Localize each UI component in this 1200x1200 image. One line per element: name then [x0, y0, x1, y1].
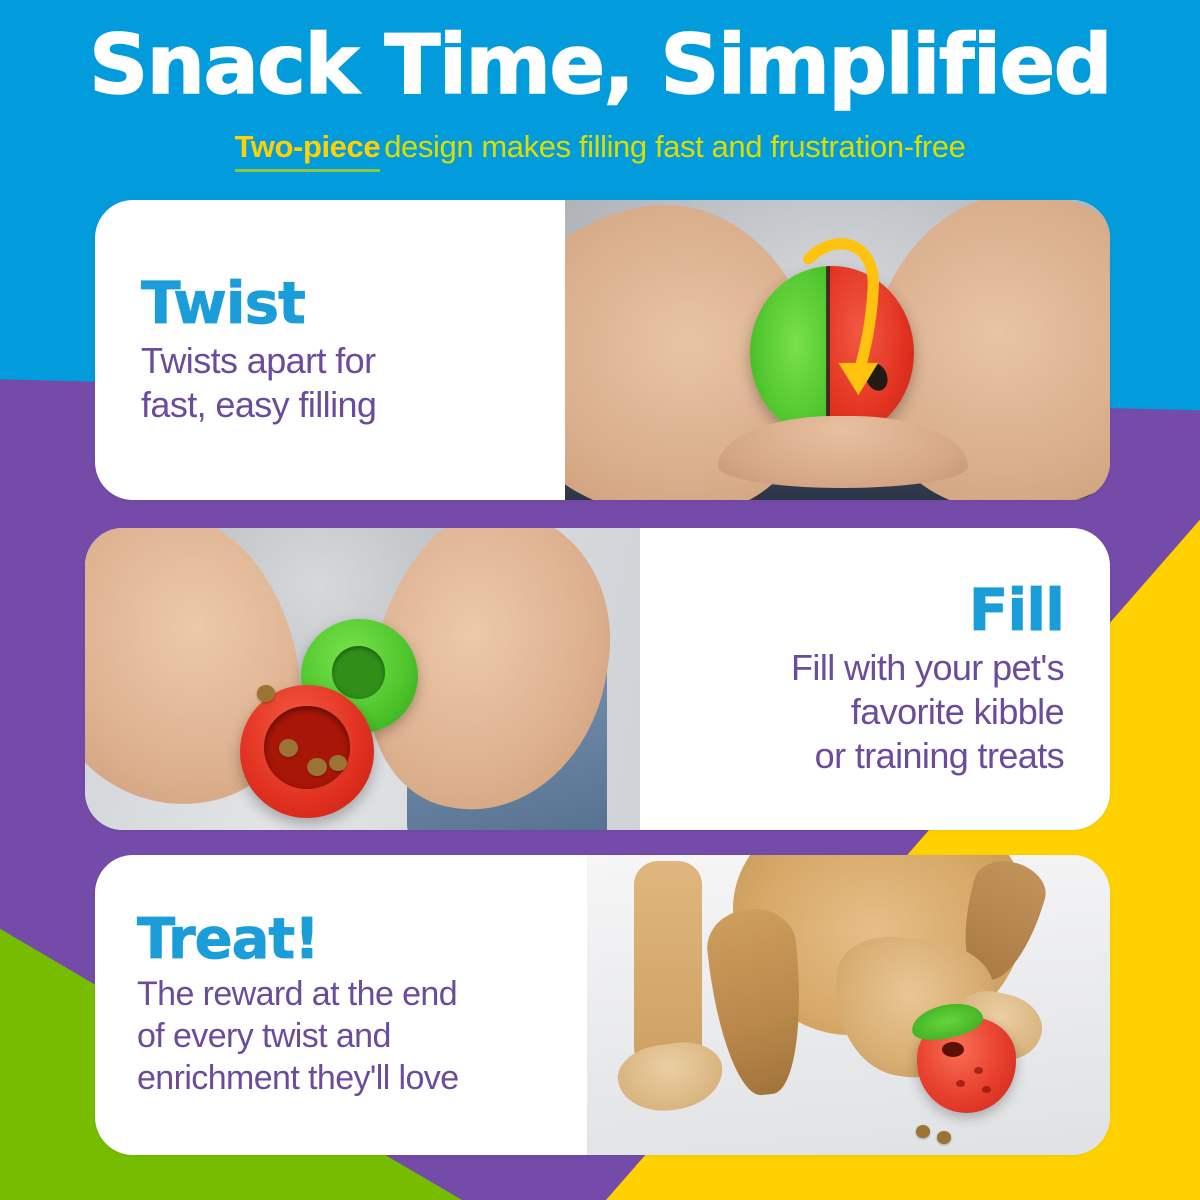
photo-hands-twisting	[565, 200, 1110, 500]
card-text-twist: Twist Twists apart for fast, easy fillin…	[95, 200, 565, 500]
toy-red-cup	[240, 685, 373, 818]
card-body-line: Fill with your pet's	[791, 647, 1064, 688]
card-body-line: of every twist and	[137, 1017, 391, 1055]
toy-seed-dot	[956, 1080, 965, 1087]
card-body-line: Twists apart for	[141, 340, 375, 381]
card-body-fill: Fill with your pet's favorite kibble or …	[791, 646, 1064, 778]
card-body-line: enrichment they'll love	[137, 1059, 459, 1097]
card-image-twist	[565, 200, 1110, 500]
twist-arrow-icon	[729, 224, 958, 410]
card-body-line: The reward at the end	[137, 975, 457, 1013]
card-body-treat: The reward at the end of every twist and…	[137, 973, 459, 1099]
photo-dog-with-toy	[587, 855, 1110, 1155]
kibble-piece	[257, 685, 275, 702]
page-title: Snack Time, Simplified	[0, 22, 1200, 110]
feature-card-fill: Fill Fill with your pet's favorite kibbl…	[85, 528, 1110, 830]
subtitle-rest: design makes filling fast and frustratio…	[384, 129, 965, 164]
kibble-piece	[279, 739, 298, 757]
toy-seed-dot	[974, 1067, 983, 1074]
feature-card-treat: Treat! The reward at the end of every tw…	[95, 855, 1110, 1155]
card-heading-treat: Treat!	[137, 911, 319, 969]
card-body-line: favorite kibble	[851, 691, 1064, 732]
card-heading-twist: Twist	[141, 273, 305, 333]
card-image-treat	[587, 855, 1110, 1155]
kibble-piece	[307, 758, 327, 776]
card-body-twist: Twists apart for fast, easy filling	[141, 339, 376, 427]
kibble-piece	[916, 1125, 930, 1138]
card-body-line: or training treats	[815, 735, 1064, 776]
toy-seed-dot	[982, 1086, 991, 1093]
toy-dispense-hole	[942, 1042, 964, 1057]
photo-hands-filling	[85, 528, 640, 830]
card-heading-fill: Fill	[969, 580, 1064, 640]
card-image-fill	[85, 528, 640, 830]
page-subtitle: Two-piecedesign makes filling fast and f…	[0, 128, 1200, 166]
feature-card-twist: Twist Twists apart for fast, easy fillin…	[95, 200, 1110, 500]
header-banner: Snack Time, Simplified Two-piecedesign m…	[0, 0, 1200, 200]
card-text-fill: Fill Fill with your pet's favorite kibbl…	[640, 528, 1110, 830]
kibble-piece	[329, 755, 347, 771]
card-text-treat: Treat! The reward at the end of every tw…	[95, 855, 587, 1155]
card-body-line: fast, easy filling	[141, 384, 376, 425]
subtitle-highlight: Two-piece	[235, 129, 381, 172]
infographic-canvas: Snack Time, Simplified Two-piecedesign m…	[0, 0, 1200, 1200]
kibble-piece	[937, 1131, 951, 1144]
